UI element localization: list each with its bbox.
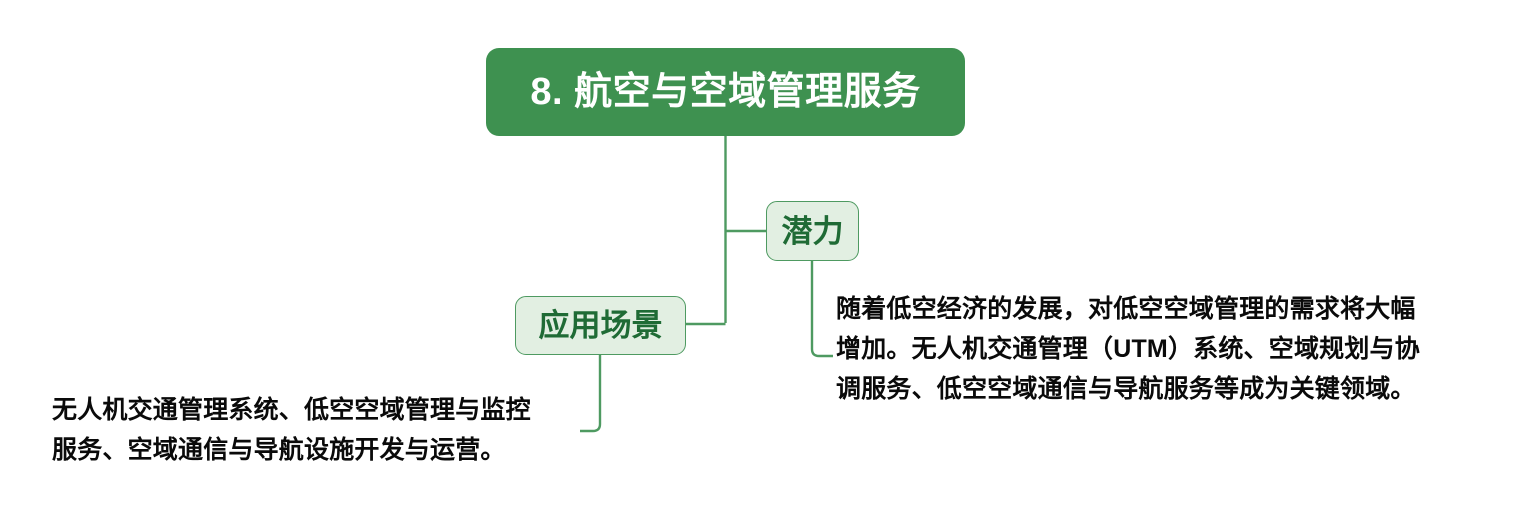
root-node[interactable]: 8. 航空与空域管理服务 [486,48,965,136]
mindmap-canvas: 8. 航空与空域管理服务 潜力 应用场景 随着低空经济的发展，对低空空域管理的需… [0,0,1538,522]
root-node-label: 8. 航空与空域管理服务 [530,73,920,111]
branch-node-scenario-label: 应用场景 [539,310,663,341]
branch-node-potential-label: 潜力 [782,216,844,247]
branch-node-scenario[interactable]: 应用场景 [515,296,686,355]
leaf-text-scenario: 无人机交通管理系统、低空空域管理与监控 服务、空域通信与导航设施开发与运营。 [52,390,612,470]
connector-potential-to-text [812,261,833,356]
branch-node-potential[interactable]: 潜力 [766,201,859,261]
leaf-text-potential: 随着低空经济的发展，对低空空域管理的需求将大幅 增加。无人机交通管理（UTM）系… [836,289,1476,409]
